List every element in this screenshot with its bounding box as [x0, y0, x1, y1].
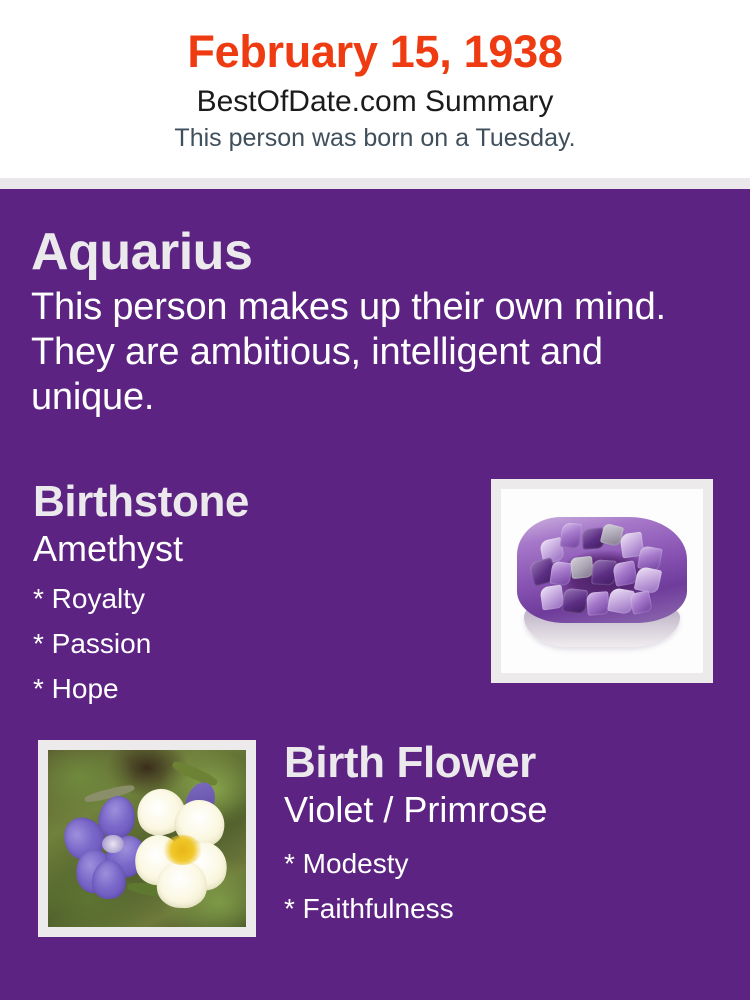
header-divider [0, 178, 750, 189]
primrose-center [163, 835, 203, 865]
list-item: * Passion [33, 621, 463, 666]
weekday-note: This person was born on a Tuesday. [0, 120, 750, 153]
birthflower-photo-frame [38, 740, 256, 937]
violet-primrose-image [48, 750, 246, 927]
amethyst-facet [539, 585, 564, 610]
site-name: BestOfDate.com Summary [0, 78, 750, 120]
amethyst-cluster-icon [517, 515, 687, 647]
birthflower-heading: Birth Flower [284, 738, 724, 788]
header: February 15, 1938 BestOfDate.com Summary… [0, 0, 750, 178]
amethyst-facet [612, 561, 638, 587]
amethyst-facet [591, 559, 616, 586]
list-item: * Royalty [33, 576, 463, 621]
amethyst-facet [562, 588, 588, 614]
amethyst-facet [634, 566, 662, 594]
birthstone-photo-frame [491, 479, 713, 683]
birthstone-heading: Birthstone [33, 477, 463, 527]
birthstone-section: Birthstone Amethyst * Royalty * Passion … [33, 477, 463, 711]
birthstone-trait-list: * Royalty * Passion * Hope [33, 570, 463, 711]
page-title: February 15, 1938 [0, 0, 750, 78]
zodiac-description: This person makes up their own mind. The… [31, 281, 691, 420]
amethyst-image [501, 489, 703, 673]
summary-card: February 15, 1938 BestOfDate.com Summary… [0, 0, 750, 1000]
violet-center [102, 835, 124, 853]
list-item: * Faithfulness [284, 886, 724, 931]
birthflower-name: Violet / Primrose [284, 788, 724, 831]
list-item: * Hope [33, 666, 463, 711]
stem [171, 758, 219, 787]
birthflower-photo [48, 750, 246, 927]
birthflower-section: Birth Flower Violet / Primrose * Modesty… [284, 738, 724, 931]
amethyst-facet [560, 522, 583, 549]
birthstone-photo [501, 489, 703, 673]
list-item: * Modesty [284, 841, 724, 886]
zodiac-section: Aquarius This person makes up their own … [31, 223, 691, 420]
birthflower-trait-list: * Modesty * Faithfulness [284, 831, 724, 931]
zodiac-sign-title: Aquarius [31, 223, 691, 281]
birthstone-name: Amethyst [33, 527, 463, 570]
amethyst-facet [586, 591, 610, 615]
